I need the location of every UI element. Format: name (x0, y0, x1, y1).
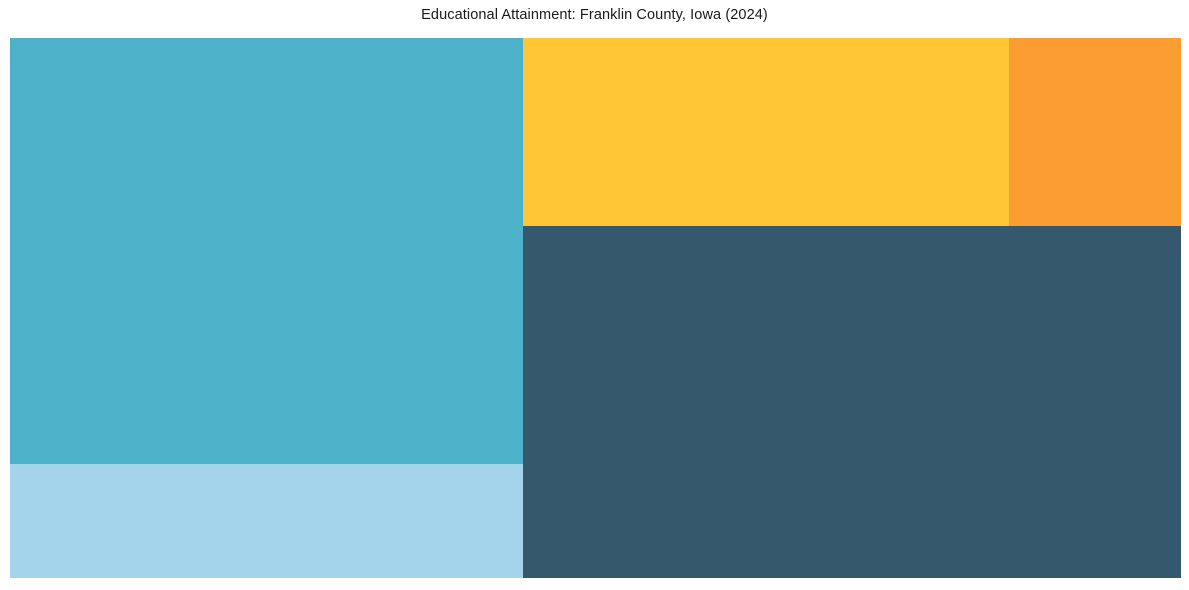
treemap-tile-bachelors-degree[interactable]: Bachelor's degree (523, 226, 1181, 578)
treemap-tile-graduate-professional-degree[interactable]: Graduate or professional degree (10, 464, 523, 578)
treemap-tile-high-school-graduate[interactable]: High school graduate (includes equivalen… (10, 38, 523, 464)
chart-title: Educational Attainment: Franklin County,… (0, 0, 1189, 30)
treemap-tile-associates-degree[interactable]: Associate's degree (1009, 38, 1181, 226)
treemap-figure: Educational Attainment: Franklin County,… (0, 0, 1189, 590)
treemap-tile-some-college-no-degree[interactable]: Some college, no degree (523, 38, 1009, 226)
treemap-plot-area: High school graduate (includes equivalen… (10, 38, 1181, 578)
